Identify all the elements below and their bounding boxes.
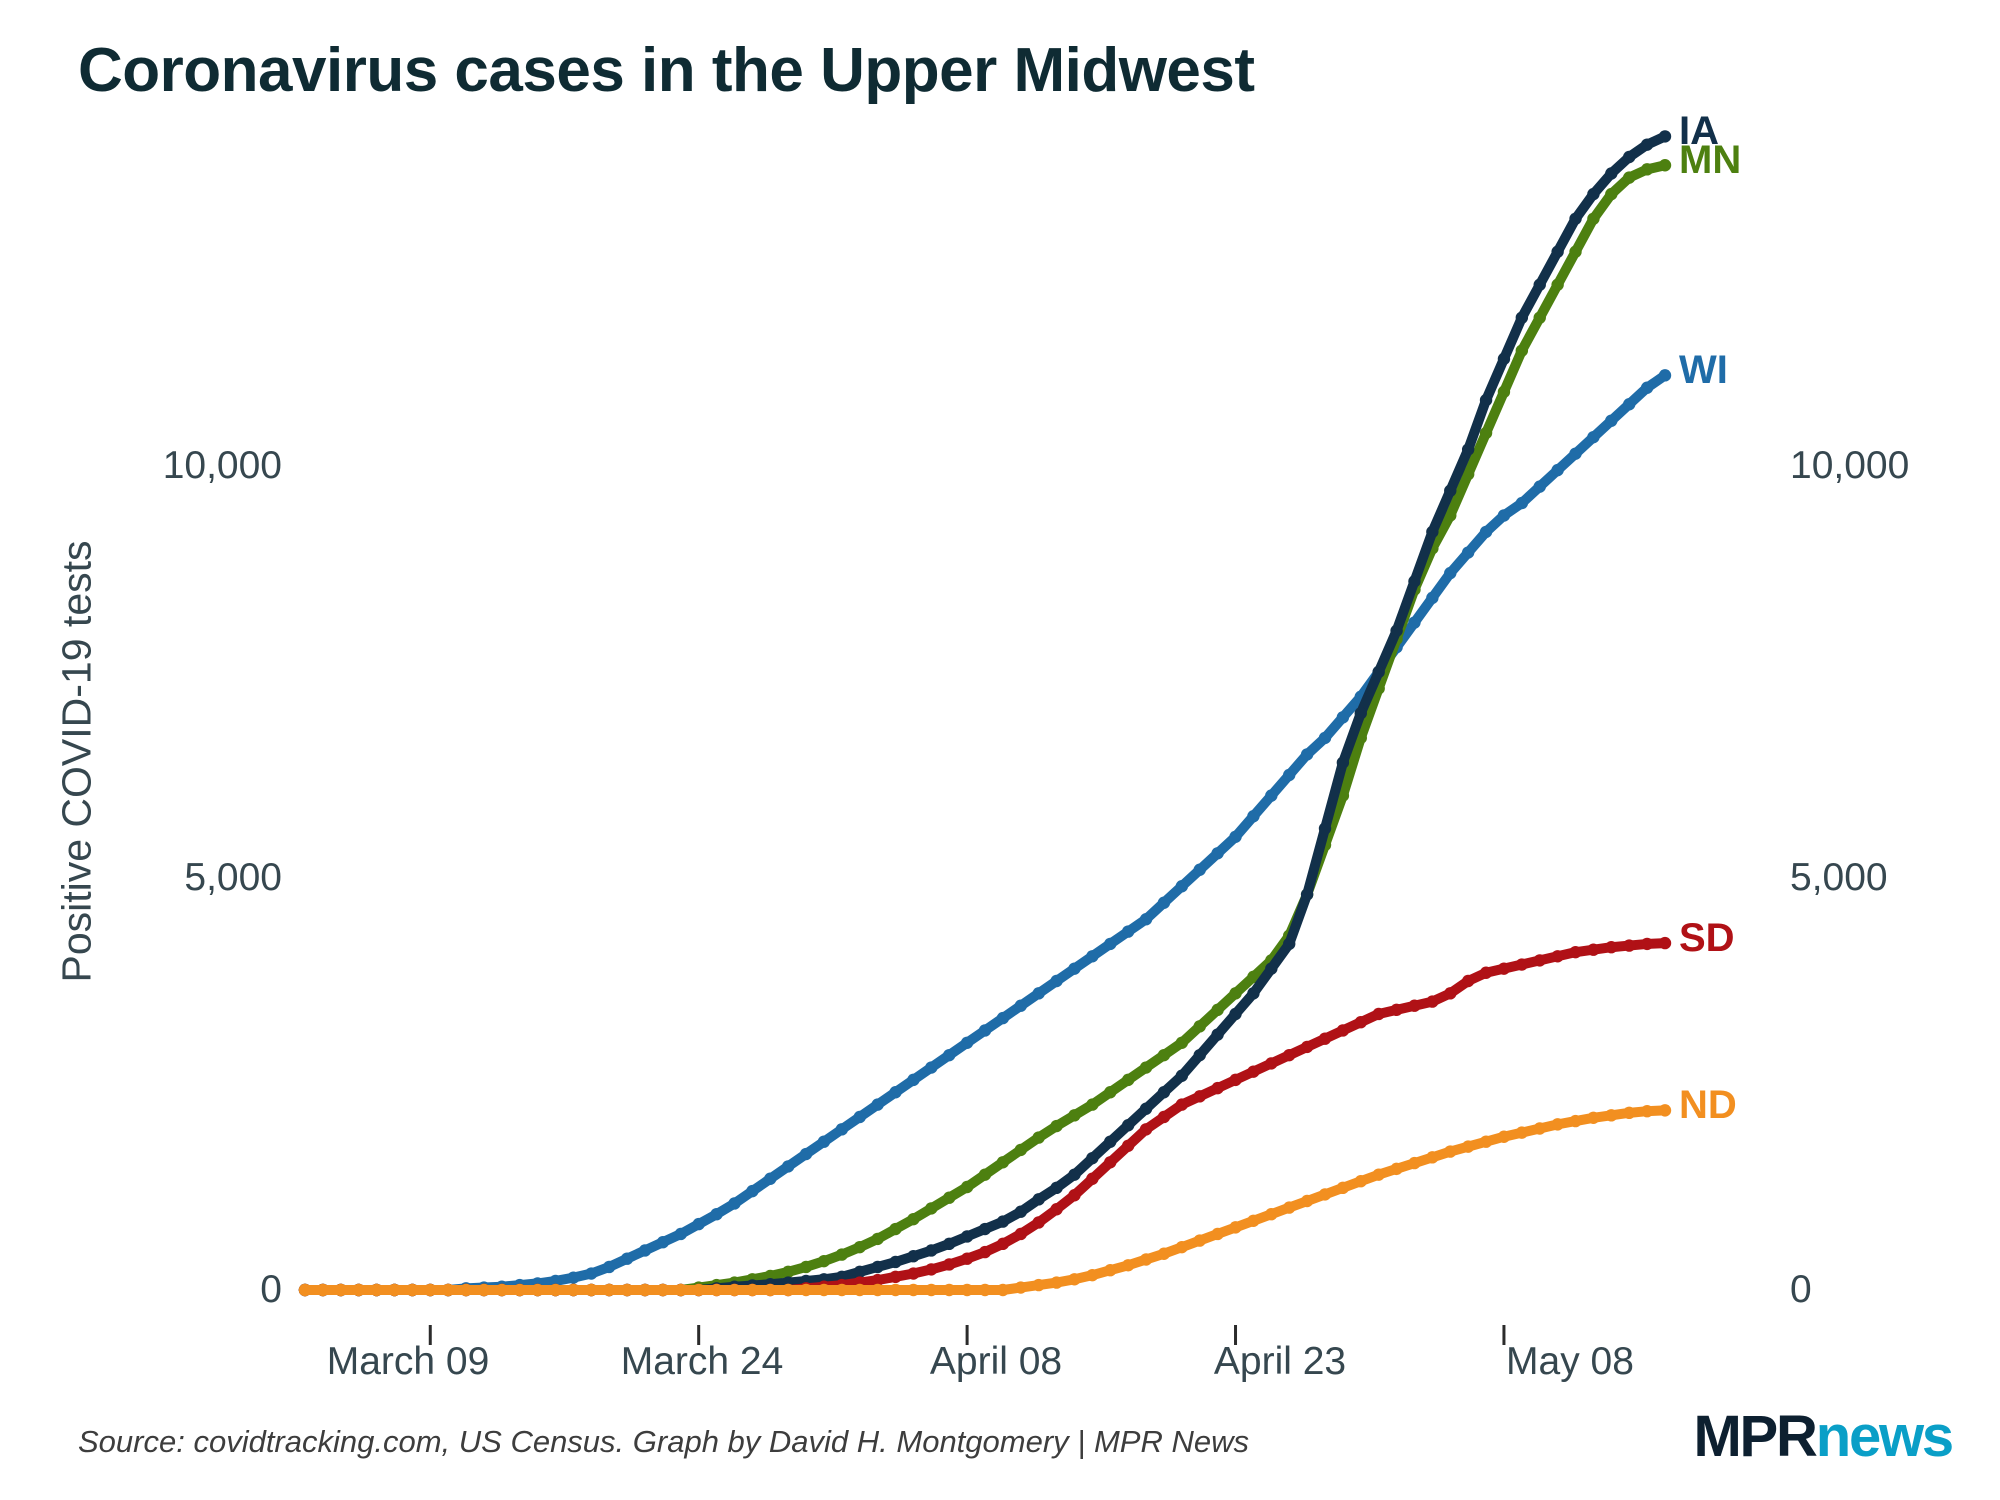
y-tick-right-10000: 10,000 <box>1790 444 1909 488</box>
x-tick-label-march-09: March 09 <box>288 1340 528 1384</box>
series-label-nd: ND <box>1679 1083 1737 1128</box>
series-line-nd <box>305 1110 1665 1290</box>
logo-mpr-text: MPR <box>1693 1404 1815 1469</box>
y-tick-right-0: 0 <box>1790 1268 1812 1312</box>
series-line-ia <box>305 136 1665 1290</box>
x-tick-label-april-23: April 23 <box>1160 1340 1400 1384</box>
y-tick-left-0: 0 <box>0 1268 282 1312</box>
y-tick-right-5000: 5,000 <box>1790 856 1888 900</box>
series-label-sd: SD <box>1679 916 1735 961</box>
y-axis-title: Positive COVID-19 tests <box>54 442 101 1082</box>
series-label-wi: WI <box>1679 348 1728 393</box>
x-tick-label-march-24: March 24 <box>582 1340 822 1384</box>
series-markers-ia <box>299 130 1671 1296</box>
x-tick-label-may-08: May 08 <box>1450 1340 1690 1384</box>
series-markers-sd <box>299 937 1671 1296</box>
series-markers-wi <box>299 369 1671 1296</box>
x-tick-label-april-08: April 08 <box>876 1340 1116 1384</box>
line-chart-plot <box>0 0 2000 1500</box>
logo-news-text: news <box>1816 1404 1952 1469</box>
y-tick-left-5000: 5,000 <box>0 856 282 900</box>
series-line-sd <box>305 943 1665 1290</box>
chart-page: Coronavirus cases in the Upper Midwest P… <box>0 0 2000 1500</box>
mpr-news-logo: MPRnews <box>1693 1408 1952 1466</box>
series-line-mn <box>305 165 1665 1290</box>
series-markers-nd <box>299 1104 1671 1296</box>
series-label-mn: MN <box>1679 138 1741 183</box>
y-tick-left-10000: 10,000 <box>0 444 282 488</box>
source-note: Source: covidtracking.com, US Census. Gr… <box>78 1424 1249 1460</box>
series-markers-mn <box>299 159 1671 1296</box>
